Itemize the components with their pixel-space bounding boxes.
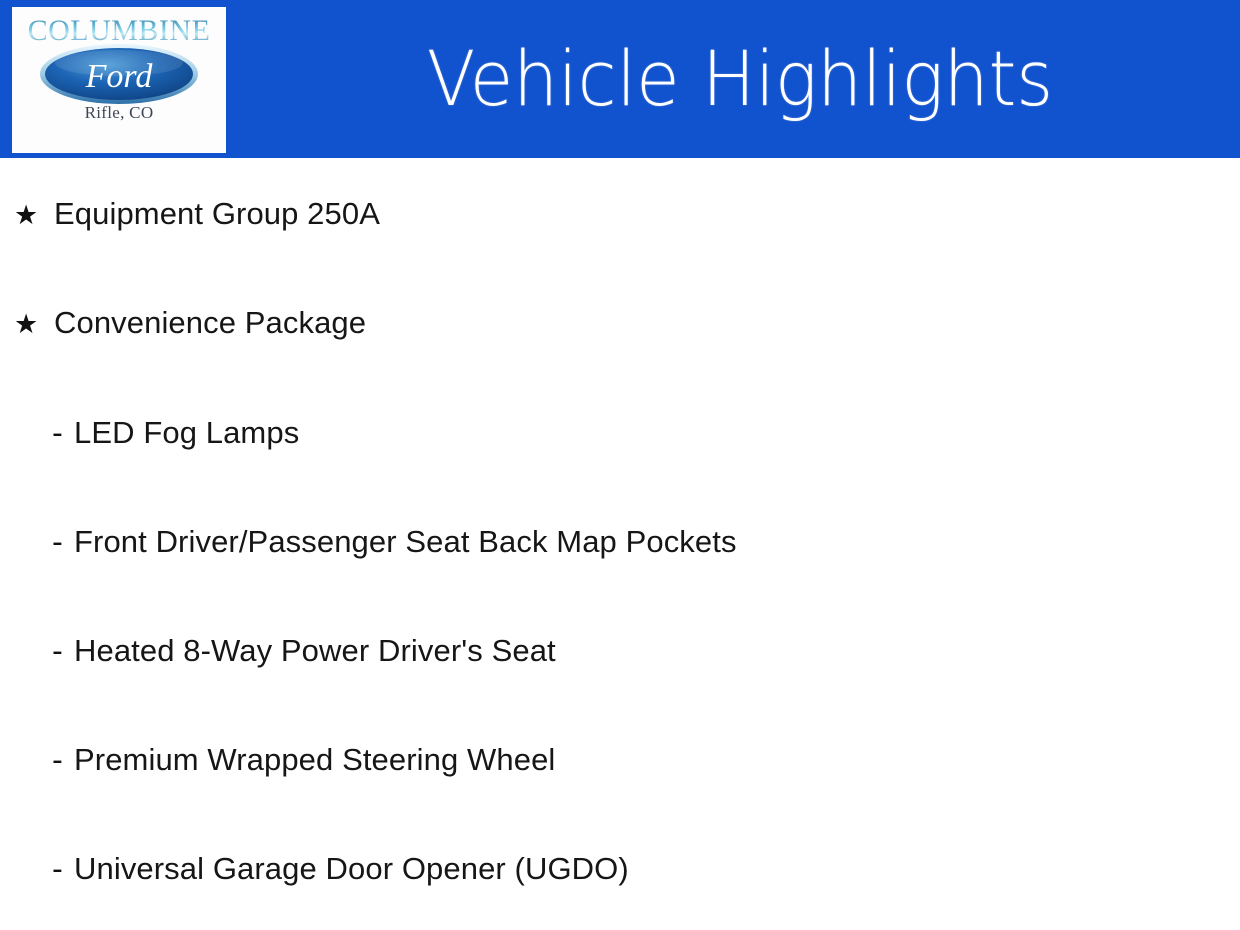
list-item-label: Convenience Package	[54, 307, 366, 338]
list-item: -LED Fog Lamps	[52, 416, 299, 451]
star-bullet-icon: ★	[14, 309, 54, 340]
svg-text:Ford: Ford	[85, 58, 154, 95]
list-item: -Universal Garage Door Opener (UGDO)	[52, 852, 629, 887]
highlights-list: ★Equipment Group 250A★Convenience Packag…	[0, 158, 1240, 930]
dash-bullet-icon: -	[52, 416, 74, 451]
list-item-label: Equipment Group 250A	[54, 198, 380, 229]
list-item: ★Convenience Package	[14, 307, 366, 340]
page-title: Vehicle Highlights	[275, 0, 1205, 158]
dash-bullet-icon: -	[52, 525, 74, 560]
list-item-label: Front Driver/Passenger Seat Back Map Poc…	[74, 526, 737, 557]
star-bullet-icon: ★	[14, 200, 54, 231]
list-item: -Front Driver/Passenger Seat Back Map Po…	[52, 525, 737, 560]
logo-columbine-text: COLUMBINE	[28, 16, 211, 46]
dash-bullet-icon: -	[52, 743, 74, 778]
list-item-label: Universal Garage Door Opener (UGDO)	[74, 853, 629, 884]
list-item: ★Equipment Group 250A	[14, 198, 380, 231]
dash-bullet-icon: -	[52, 634, 74, 669]
list-item-label: Premium Wrapped Steering Wheel	[74, 744, 555, 775]
list-item: -Premium Wrapped Steering Wheel	[52, 743, 555, 778]
list-item-label: Heated 8-Way Power Driver's Seat	[74, 635, 556, 666]
logo-location-text: Rifle, CO	[85, 103, 154, 123]
dealer-logo: COLUMBINE Fo	[12, 7, 226, 153]
dash-bullet-icon: -	[52, 852, 74, 887]
ford-oval-icon: Ford	[39, 43, 199, 105]
list-item: -Heated 8-Way Power Driver's Seat	[52, 634, 556, 669]
list-item-label: LED Fog Lamps	[74, 417, 299, 448]
